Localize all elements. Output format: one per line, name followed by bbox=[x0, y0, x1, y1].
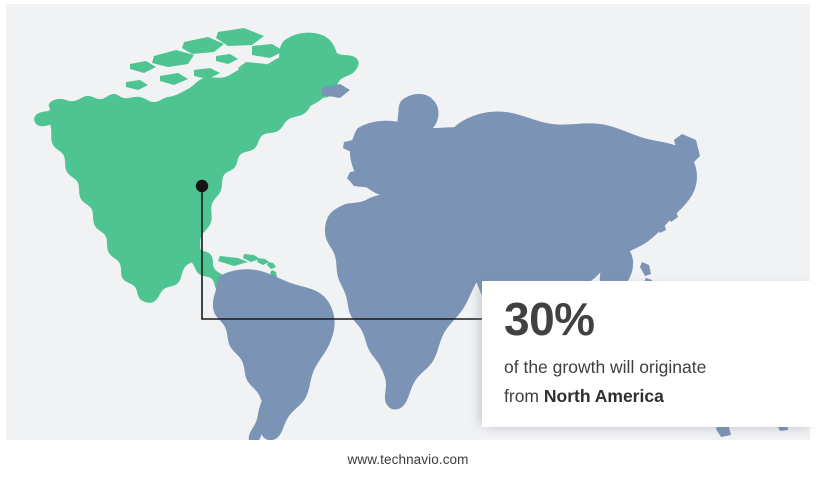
callout-line-2-prefix: from bbox=[504, 386, 544, 406]
callout-card: 30% of the growth will originate from No… bbox=[482, 281, 816, 427]
callout-percentage: 30% bbox=[504, 295, 816, 343]
footer-url[interactable]: www.technavio.com bbox=[0, 452, 816, 467]
callout-line-1: of the growth will originate bbox=[504, 357, 706, 377]
callout-region-name: North America bbox=[544, 386, 664, 406]
callout-description: of the growth will originate from North … bbox=[504, 353, 804, 411]
region-south-america bbox=[213, 269, 335, 440]
infographic-root: 30% of the growth will originate from No… bbox=[0, 0, 816, 480]
region-north-america bbox=[34, 28, 358, 303]
